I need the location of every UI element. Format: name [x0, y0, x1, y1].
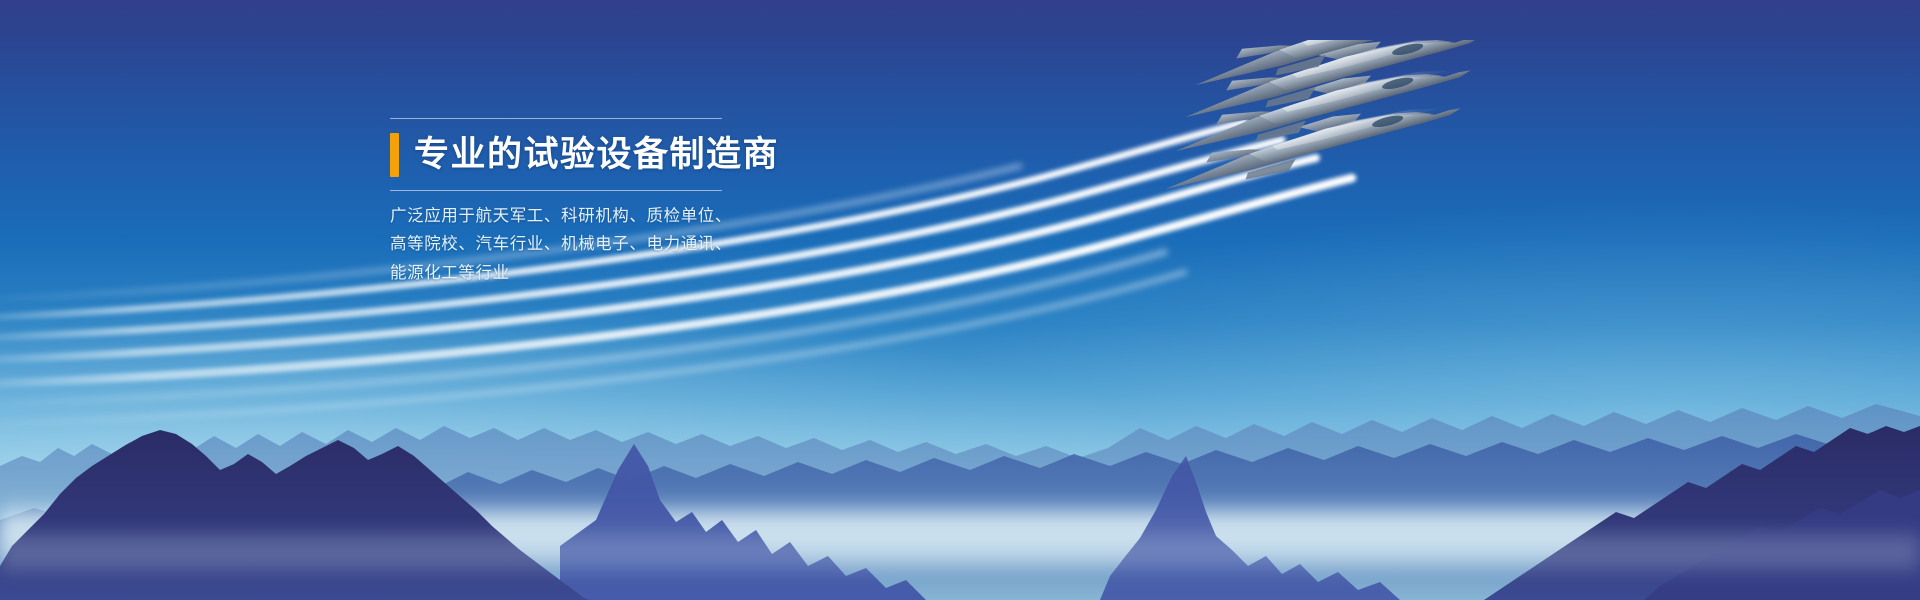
- hero-banner: 专业的试验设备制造商 广泛应用于航天军工、科研机构、质检单位、 高等院校、汽车行…: [0, 0, 1920, 600]
- divider-line-top: [390, 118, 722, 119]
- subtitle-line-3: 能源化工等行业: [390, 259, 750, 287]
- page-title: 专业的试验设备制造商: [414, 138, 779, 173]
- subtitle-line-2: 高等院校、汽车行业、机械电子、电力通讯、: [390, 230, 750, 258]
- divider-line-bottom: [390, 190, 722, 191]
- hero-title-row: 专业的试验设备制造商: [390, 128, 750, 182]
- hero-copy-block: 专业的试验设备制造商 广泛应用于航天军工、科研机构、质检单位、 高等院校、汽车行…: [390, 118, 750, 287]
- subtitle-line-1: 广泛应用于航天军工、科研机构、质检单位、: [390, 202, 750, 230]
- sky-background: [0, 0, 1920, 600]
- hero-subtitle: 广泛应用于航天军工、科研机构、质检单位、 高等院校、汽车行业、机械电子、电力通讯…: [390, 202, 750, 287]
- orange-accent-bar: [390, 133, 399, 177]
